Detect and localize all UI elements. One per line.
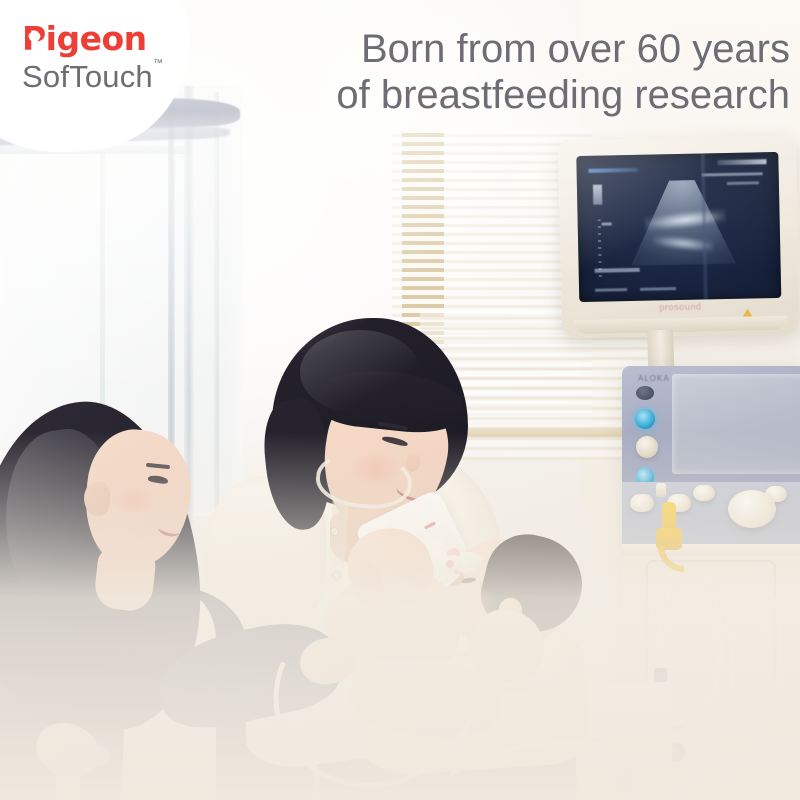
ultrasound-screen <box>576 152 781 302</box>
screen-readout-2 <box>702 173 763 177</box>
softouch-wordmark-text: SofTouch <box>22 59 153 94</box>
heart-icon <box>28 32 41 44</box>
console-power-button[interactable] <box>635 409 655 429</box>
screen-footer-left <box>595 288 627 292</box>
headline: Born from over 60 years of breastfeeding… <box>250 26 790 119</box>
floor-light-wash <box>0 432 800 800</box>
screen-gain-gauge <box>593 185 602 205</box>
screen-marker <box>602 223 612 226</box>
trademark-symbol: ™ <box>153 59 163 70</box>
monitor-bezel-chin <box>574 316 788 334</box>
mother-hair-highlight <box>300 330 420 414</box>
pigeon-wordmark: Pigeon <box>22 22 172 55</box>
console-brand-label: ALOKA <box>638 374 670 383</box>
headline-line-1: Born from over 60 years <box>361 27 790 71</box>
screen-footer-right <box>640 287 676 291</box>
screen-readout-3 <box>726 182 758 186</box>
advertisement-canvas: prosound ALOKA <box>0 0 800 800</box>
brand-logo: Pigeon SofTouch™ <box>22 22 172 94</box>
screen-header-text <box>589 168 638 173</box>
screen-readout-1 <box>718 159 767 165</box>
softouch-wordmark: SofTouch™ <box>22 61 172 94</box>
headline-line-2: of breastfeeding research <box>250 72 790 118</box>
monitor-brand-label: prosound <box>561 299 799 314</box>
ultrasound-monitor: prosound <box>558 136 800 339</box>
screen-measure-text <box>595 268 640 273</box>
console-dark-button[interactable] <box>636 386 654 400</box>
